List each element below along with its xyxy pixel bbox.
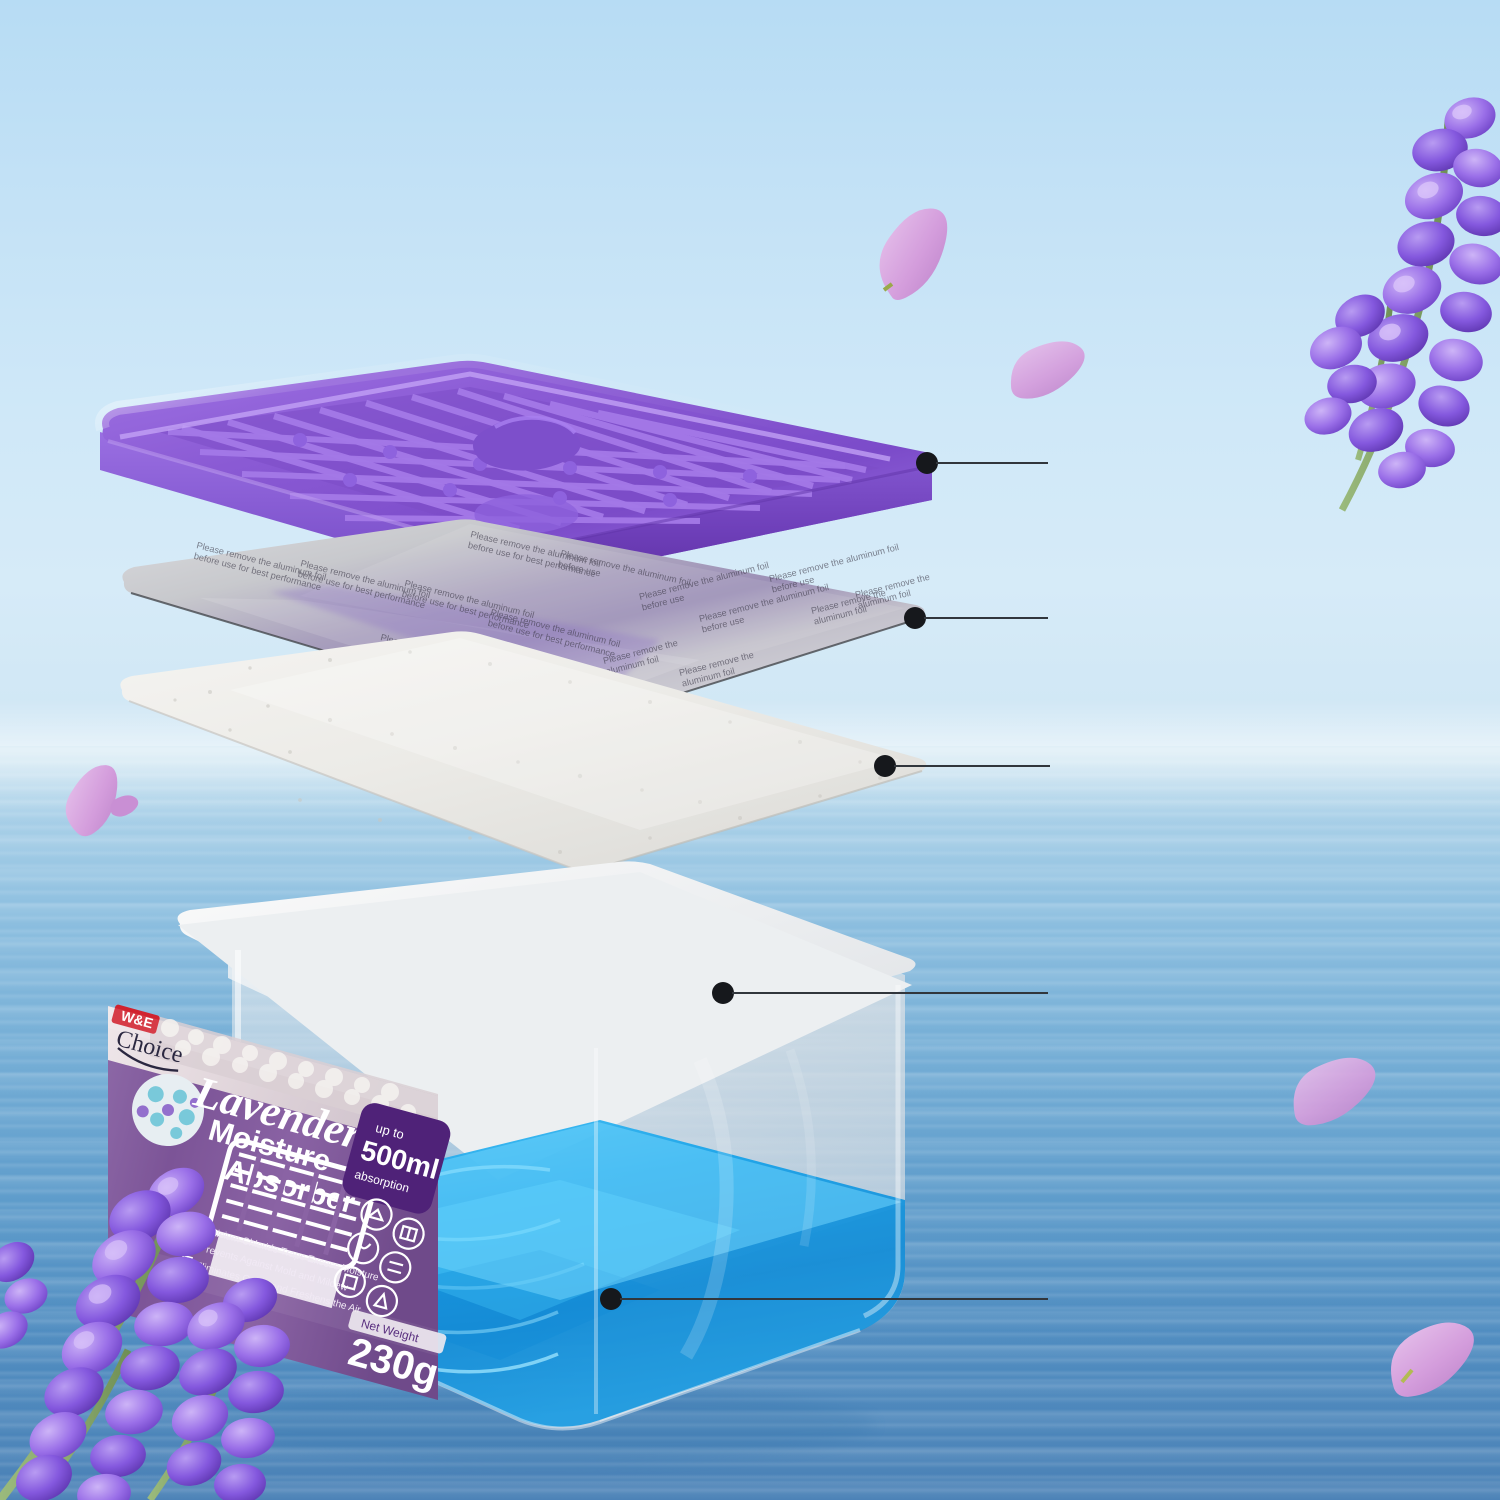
callout-group	[0, 0, 1500, 1500]
callout-leader-aluminum-foil	[924, 617, 1048, 619]
callout-leader-protective-cover	[936, 462, 1048, 464]
callout-dot-protective-cover	[916, 452, 938, 474]
callout-dot-calcium-particles	[712, 982, 734, 1004]
callout-dot-aluminum-foil	[904, 607, 926, 629]
callout-dot-pe-breathable-film	[874, 755, 896, 777]
callout-dot-water-collection	[600, 1288, 622, 1310]
callout-leader-calcium-particles	[732, 992, 1048, 994]
callout-leader-water-collection	[620, 1298, 1048, 1300]
callout-leader-pe-breathable-film	[894, 765, 1050, 767]
